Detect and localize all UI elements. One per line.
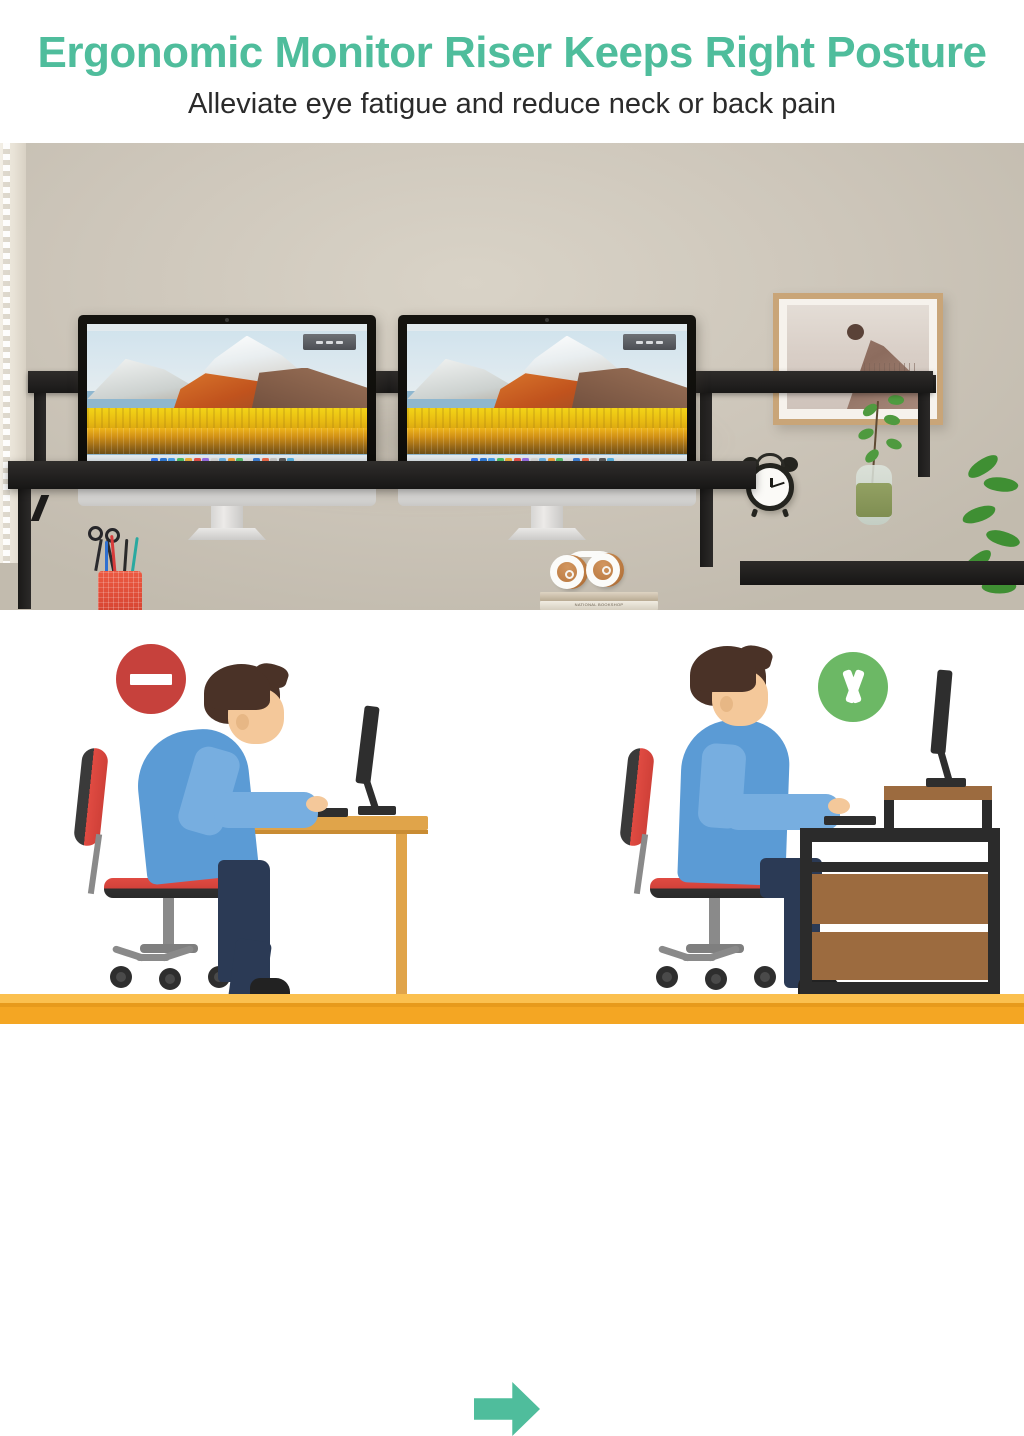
scissor-blade-left bbox=[94, 539, 103, 571]
macos-menubar bbox=[407, 324, 687, 331]
desk-surface-main bbox=[8, 461, 756, 489]
person-forearm bbox=[724, 794, 840, 830]
art-tree-shape bbox=[847, 324, 864, 340]
monitor-base-illustration bbox=[358, 806, 396, 815]
badge-bar bbox=[646, 341, 653, 344]
badge-bar bbox=[316, 341, 323, 344]
screen-window-badge bbox=[303, 334, 356, 350]
desk-drawer-bottom[interactable] bbox=[812, 932, 988, 980]
desk-top-illustration bbox=[800, 828, 1000, 842]
chair-caster bbox=[110, 966, 132, 988]
badge-bar bbox=[326, 341, 333, 344]
monitor-neck bbox=[531, 506, 563, 530]
prohibition-icon bbox=[116, 644, 186, 714]
riser-leg-far-right bbox=[918, 393, 930, 477]
person-ear bbox=[720, 696, 733, 712]
wallpaper-lake bbox=[407, 428, 687, 454]
webcam-icon bbox=[225, 318, 229, 322]
headphone-logo-left bbox=[565, 570, 574, 579]
person-hand bbox=[306, 796, 328, 812]
webcam-icon bbox=[545, 318, 549, 322]
posture-comparison-illustration bbox=[0, 610, 1024, 1024]
desk-rail-illustration bbox=[800, 862, 1000, 872]
book-stack: NATIONAL BOOKSHOP THRIFT bbox=[540, 592, 658, 610]
book-subtitle: NATIONAL BOOKSHOP bbox=[540, 602, 658, 607]
transition-arrow-icon bbox=[474, 1382, 540, 1436]
headphones bbox=[546, 551, 640, 595]
person-forearm bbox=[214, 792, 318, 828]
floor-bar bbox=[0, 994, 1024, 1024]
good-posture-scene bbox=[512, 610, 1024, 1024]
monitor-foot bbox=[188, 528, 266, 540]
person-hand bbox=[828, 798, 850, 814]
bad-posture-scene bbox=[0, 610, 512, 1024]
headphone-logo-right bbox=[602, 566, 611, 575]
chair-caster bbox=[754, 966, 776, 988]
plant-leaf bbox=[984, 524, 1021, 552]
monitor-neck bbox=[211, 506, 243, 530]
macos-menubar bbox=[87, 324, 367, 331]
chair-spoke-center bbox=[136, 954, 170, 961]
chair-gas-stem bbox=[709, 898, 720, 946]
wooden-desk-leg-right bbox=[396, 834, 407, 996]
desk-leg-left bbox=[18, 489, 31, 609]
check-v-shape bbox=[836, 670, 870, 704]
chair-spoke-center bbox=[682, 954, 716, 961]
chair-backrest bbox=[73, 747, 109, 847]
art-image bbox=[787, 305, 929, 409]
pencil-cup bbox=[98, 571, 142, 610]
plant-leaf bbox=[961, 504, 997, 525]
book-top bbox=[540, 592, 658, 601]
monitor-screen bbox=[87, 324, 367, 469]
badge-bar bbox=[656, 341, 663, 344]
person-hair-front bbox=[692, 648, 756, 692]
riser-shelf-illustration bbox=[884, 786, 992, 800]
header-banner: Ergonomic Monitor Riser Keeps Right Post… bbox=[0, 0, 1024, 143]
badge-bar bbox=[636, 341, 643, 344]
plant-leaf bbox=[983, 473, 1020, 497]
vase-green-wrap bbox=[856, 483, 892, 517]
desk-drawer-top[interactable] bbox=[812, 874, 988, 924]
monitor-foot bbox=[508, 528, 586, 540]
chair-gas-stem bbox=[163, 898, 174, 946]
chair-caster bbox=[159, 968, 181, 990]
chair-backrest bbox=[619, 747, 655, 847]
chair-caster bbox=[656, 966, 678, 988]
chair-caster bbox=[705, 968, 727, 990]
screen-window-badge bbox=[623, 334, 676, 350]
page-subtitle: Alleviate eye fatigue and reduce neck or… bbox=[0, 88, 1024, 121]
clock-foot-right bbox=[782, 508, 789, 517]
keyboard-illustration bbox=[824, 816, 876, 825]
check-mark-icon bbox=[818, 652, 888, 722]
monitor-bezel bbox=[398, 315, 696, 473]
desk-leg-right bbox=[700, 489, 713, 567]
clock-minute-hand bbox=[771, 482, 785, 488]
person-ear bbox=[236, 714, 249, 730]
page-title: Ergonomic Monitor Riser Keeps Right Post… bbox=[0, 28, 1024, 78]
badge-bar bbox=[336, 341, 343, 344]
monitor-bezel bbox=[78, 315, 376, 473]
person-hair-front bbox=[206, 666, 270, 710]
product-photo: NATIONAL BOOKSHOP THRIFT EPSON EPSON bbox=[0, 143, 1024, 610]
monitor-screen bbox=[407, 324, 687, 469]
wallpaper-lake bbox=[87, 428, 367, 454]
desk-surface-lower-right bbox=[740, 561, 1024, 585]
monitor-base-illustration bbox=[926, 778, 966, 787]
